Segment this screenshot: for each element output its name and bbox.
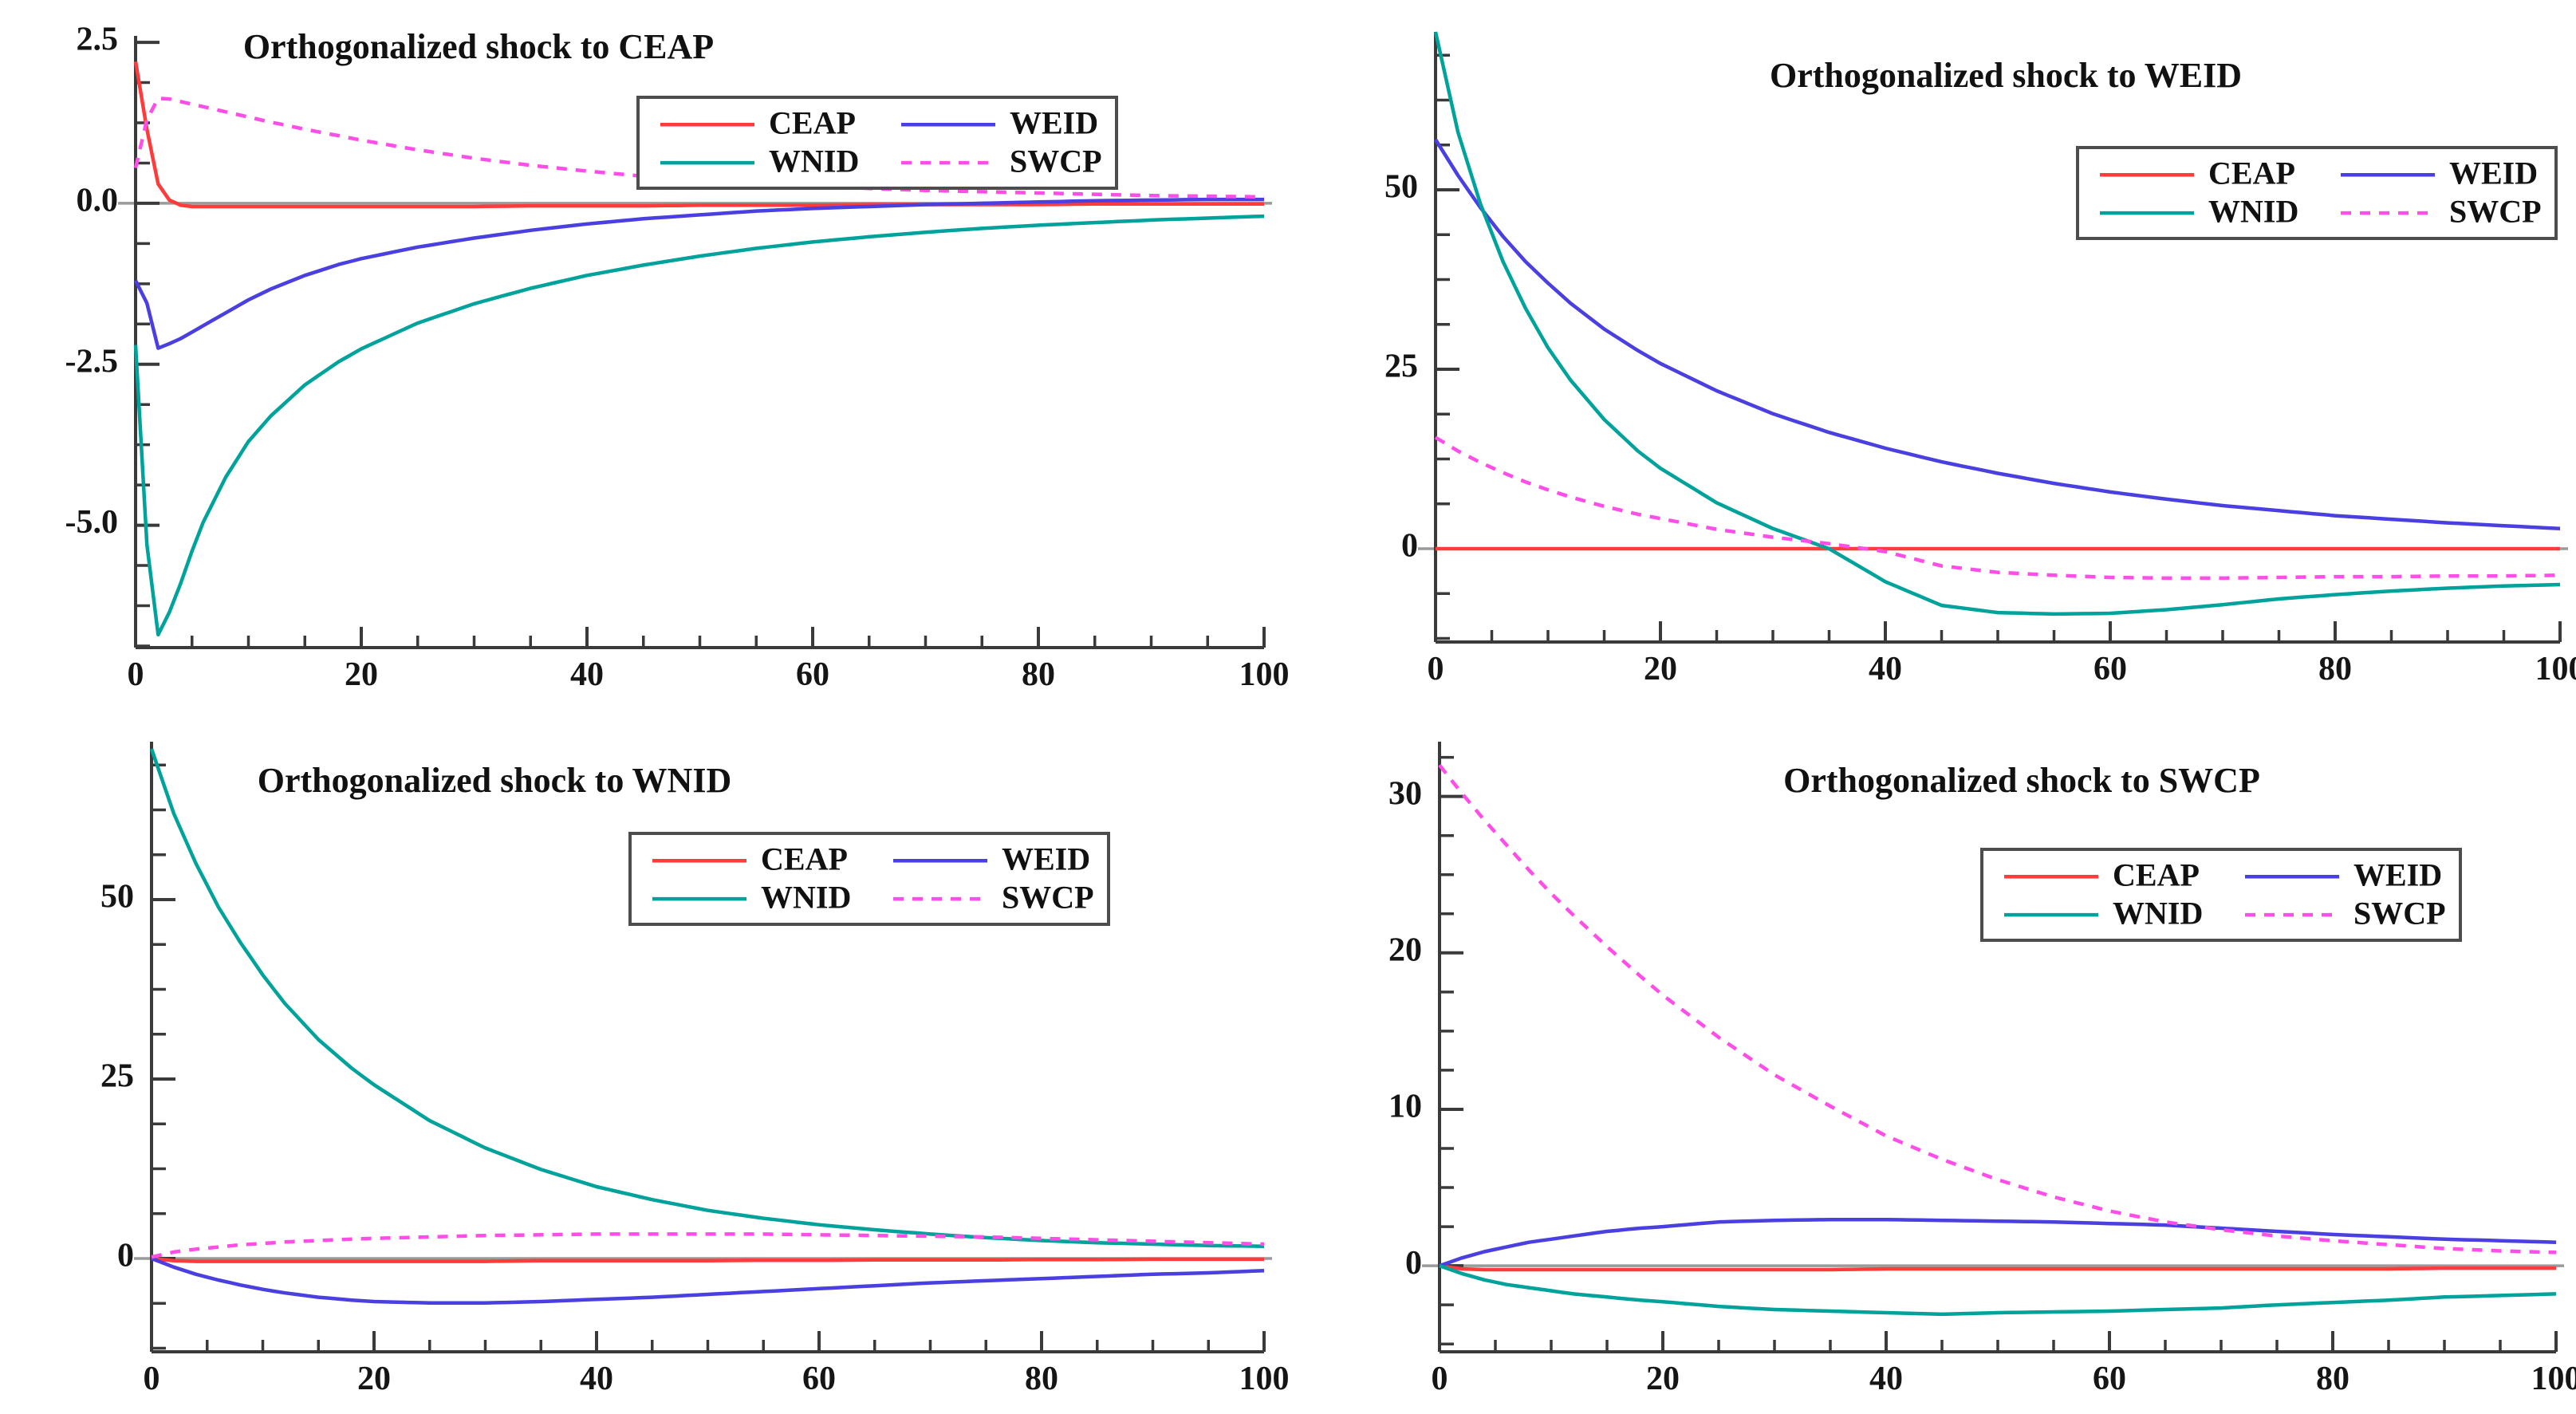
legend-label-swcp: SWCP [2449,193,2542,229]
y-tick-label: 30 [1388,775,1422,812]
legend-label-wnid: WNID [2208,193,2298,229]
series-line-wnid [152,749,1264,1247]
x-tick-label: 40 [1869,651,1902,687]
series-line-wnid [136,216,1264,635]
y-tick-label: 50 [100,879,134,916]
y-tick-label: 20 [1388,932,1422,968]
legend-label-ceap: CEAP [2113,857,2200,892]
x-tick-label: 0 [1432,1361,1448,1397]
series-line-swcp [1440,765,2556,1252]
legend-label-weid: WEID [1002,841,1090,876]
panel-weid: Orthogonalized shock to WEID502500204060… [1288,0,2576,710]
legend-label-weid: WEID [2449,155,2538,191]
y-tick-label: 25 [1385,349,1418,385]
y-tick-label: 0 [1405,1245,1422,1282]
y-tick-label: 0.0 [77,183,119,219]
series-line-wnid [1436,32,2560,614]
y-tick-label: 10 [1388,1089,1422,1125]
series-line-weid [152,1258,1264,1303]
legend-label-swcp: SWCP [2353,895,2446,931]
y-tick-label: 50 [1385,169,1418,206]
y-tick-label: 0 [1401,528,1418,565]
panel-title: Orthogonalized shock to CEAP [243,27,714,66]
panel-title: Orthogonalized shock to WEID [1770,56,2242,95]
legend-label-swcp: SWCP [1010,143,1102,179]
x-tick-label: 20 [1646,1361,1680,1397]
panel-swcp: Orthogonalized shock to SWCP302010002040… [1288,710,2576,1414]
x-tick-label: 0 [144,1361,160,1397]
x-tick-label: 60 [796,656,829,693]
panel-ceap: Orthogonalized shock to CEAP2.50.0-2.5-5… [0,0,1288,710]
x-tick-label: 100 [1239,656,1289,693]
x-tick-label: 80 [2316,1361,2350,1397]
panel-wnid: Orthogonalized shock to WNID502500204060… [0,710,1288,1414]
panel-title: Orthogonalized shock to SWCP [1783,761,2260,800]
x-tick-label: 100 [1239,1361,1289,1397]
x-tick-label: 80 [1025,1361,1058,1397]
x-tick-label: 40 [580,1361,613,1397]
x-tick-label: 80 [1022,656,1055,693]
x-tick-label: 0 [1428,651,1444,687]
x-tick-label: 0 [128,656,144,693]
x-tick-label: 60 [2093,1361,2126,1397]
panel-title: Orthogonalized shock to WNID [258,761,731,800]
legend-label-ceap: CEAP [2208,155,2295,191]
legend-label-ceap: CEAP [761,841,848,876]
series-line-weid [1440,1219,2556,1266]
legend-label-weid: WEID [2353,857,2442,892]
legend-label-wnid: WNID [761,879,851,915]
x-tick-label: 40 [1869,1361,1903,1397]
x-tick-label: 80 [2318,651,2352,687]
x-tick-label: 20 [345,656,378,693]
legend-label-ceap: CEAP [769,104,856,140]
x-tick-label: 100 [2531,1361,2576,1397]
series-line-swcp [152,1234,1264,1257]
x-tick-label: 40 [570,656,604,693]
series-line-swcp [1436,438,2560,578]
figure-grid: Orthogonalized shock to CEAP2.50.0-2.5-5… [0,0,2576,1414]
legend-label-weid: WEID [1010,104,1098,140]
x-tick-label: 100 [2535,651,2576,687]
y-tick-label: 25 [100,1058,134,1095]
x-tick-label: 60 [802,1361,836,1397]
series-line-wnid [1440,1266,2556,1314]
legend-label-swcp: SWCP [1002,879,1094,915]
legend-label-wnid: WNID [769,143,859,179]
legend-label-wnid: WNID [2113,895,2203,931]
y-tick-label: 0 [117,1238,134,1274]
y-tick-label: -5.0 [65,504,119,541]
x-tick-label: 20 [1644,651,1677,687]
y-tick-label: 2.5 [77,22,119,58]
x-tick-label: 20 [357,1361,391,1397]
y-tick-label: -2.5 [65,343,119,380]
x-tick-label: 60 [2093,651,2127,687]
